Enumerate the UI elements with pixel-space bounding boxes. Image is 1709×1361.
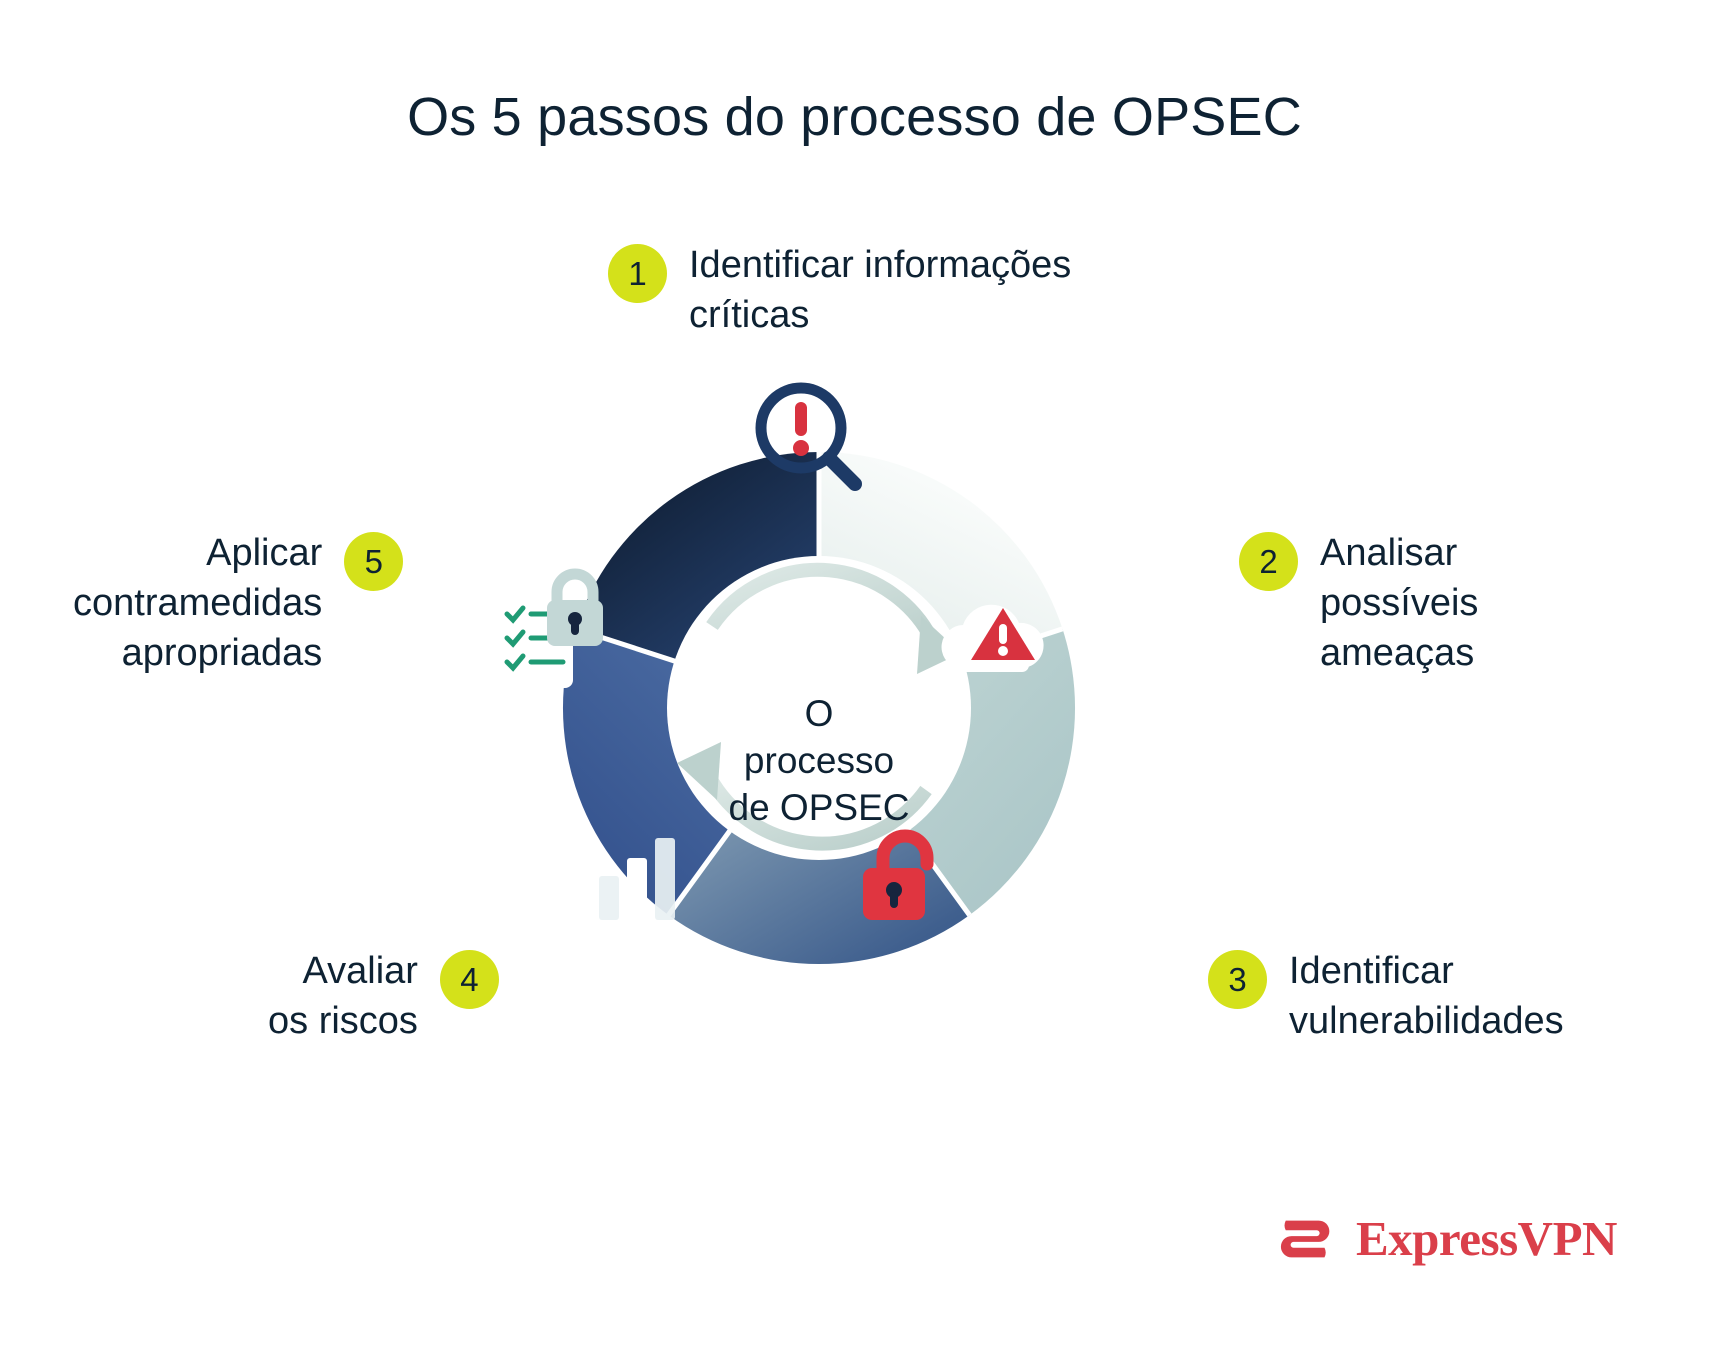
center-line-2: processo	[469, 737, 1169, 784]
expressvpn-mark-icon	[1278, 1207, 1340, 1269]
step-item-5[interactable]: Aplicar contramedidas apropriadas 5	[73, 528, 403, 678]
center-line-3: de OPSEC	[469, 784, 1169, 831]
step-badge-2: 2	[1239, 532, 1298, 591]
step-item-3[interactable]: 3 Identificar vulnerabilidades	[1208, 946, 1564, 1046]
step-item-2[interactable]: 2 Analisar possíveis ameaças	[1239, 528, 1478, 678]
step-label-2: Analisar possíveis ameaças	[1320, 528, 1478, 678]
step-label-5: Aplicar contramedidas apropriadas	[73, 528, 322, 678]
donut-center-label: O processo de OPSEC	[469, 690, 1169, 831]
infographic-canvas: Os 5 passos do processo de OPSEC	[0, 0, 1709, 1361]
step-label-1: Identificar informações críticas	[689, 240, 1071, 340]
step-item-4[interactable]: Avaliar os riscos 4	[268, 946, 499, 1046]
step-item-1[interactable]: 1 Identificar informações críticas	[608, 240, 1071, 340]
step-label-4: Avaliar os riscos	[268, 946, 418, 1046]
step-badge-1: 1	[608, 244, 667, 303]
brand-name: ExpressVPN	[1356, 1210, 1617, 1267]
step-badge-4: 4	[440, 950, 499, 1009]
step-label-3: Identificar vulnerabilidades	[1289, 946, 1564, 1046]
step-badge-5: 5	[344, 532, 403, 591]
step-badge-3: 3	[1208, 950, 1267, 1009]
brand-logo: ExpressVPN	[1278, 1207, 1617, 1269]
center-line-1: O	[469, 690, 1169, 737]
page-title: Os 5 passos do processo de OPSEC	[0, 86, 1709, 148]
